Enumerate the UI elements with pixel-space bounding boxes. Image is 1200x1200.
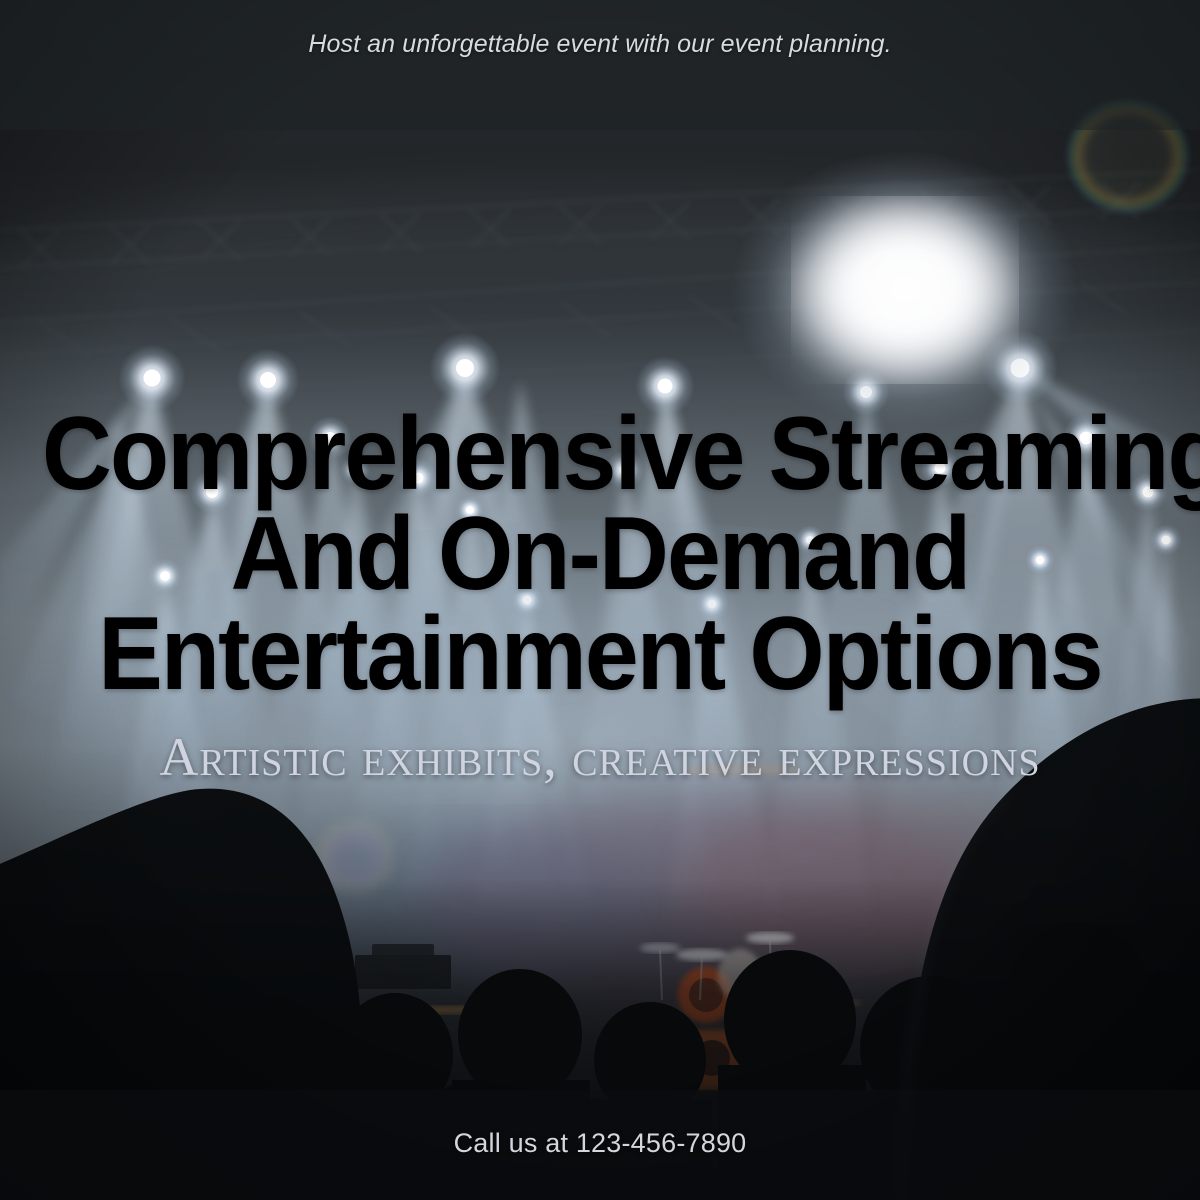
headline-line-1: Comprehensive Streaming bbox=[42, 405, 1158, 505]
headline-line-3: Entertainment Options bbox=[42, 605, 1158, 705]
poster-text-overlay: Host an unforgettable event with our eve… bbox=[0, 0, 1200, 1200]
event-promo-poster: Host an unforgettable event with our eve… bbox=[0, 0, 1200, 1200]
contact-phone-text: Call us at 123-456-7890 bbox=[0, 1128, 1200, 1159]
subtitle-text: Artistic exhibits, creative expressions bbox=[0, 726, 1200, 788]
headline-line-2: And On-Demand bbox=[42, 505, 1158, 605]
tagline-text: Host an unforgettable event with our eve… bbox=[0, 30, 1200, 59]
headline-block: Comprehensive Streaming And On-Demand En… bbox=[42, 405, 1158, 704]
